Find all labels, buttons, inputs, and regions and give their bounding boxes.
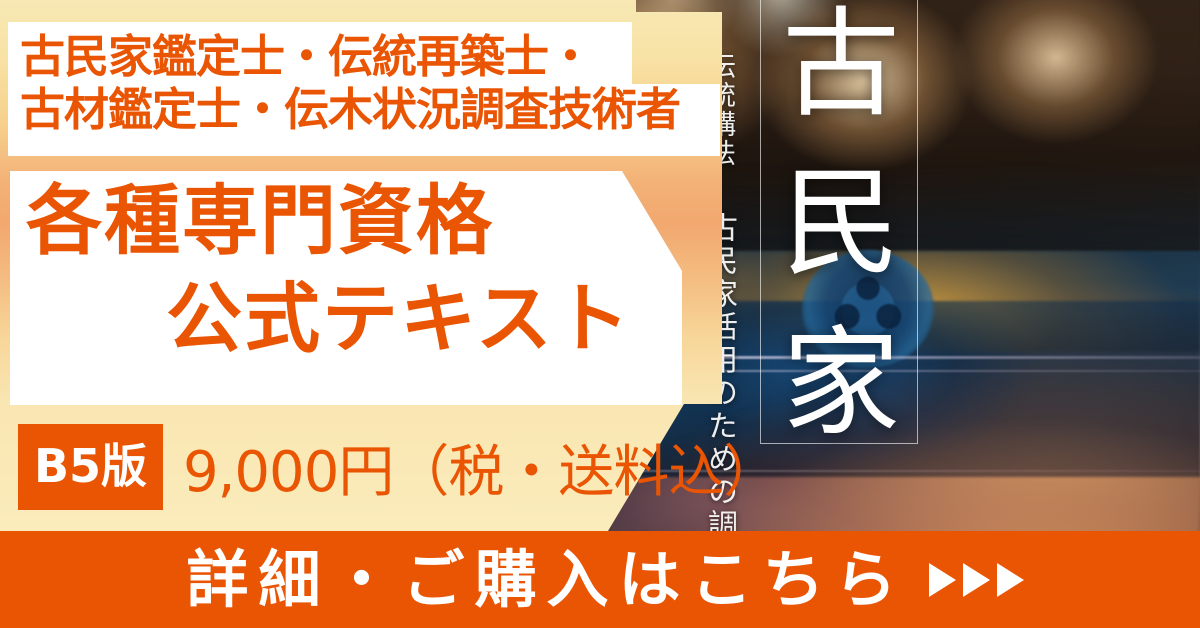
main-title: 各種専門資格 公式テキスト	[16, 176, 684, 363]
play-triangle-icon	[929, 563, 956, 597]
format-badge: B5版	[18, 424, 163, 510]
promo-banner[interactable]: 伝統構法 古民家活用のための調査と再生の 古 民 家 古民家鑑定士・伝統再築士・…	[0, 0, 1200, 628]
book-cover-title-char-1: 古	[782, 8, 900, 121]
main-title-line-1: 各種専門資格	[16, 176, 684, 266]
book-cover-title: 古 民 家	[766, 6, 916, 446]
book-cover-title-char-3: 家	[782, 327, 900, 440]
headline-line-1: 古民家鑑定士・伝統再築士・	[20, 30, 726, 85]
play-triangle-icon	[963, 563, 990, 597]
headline: 古民家鑑定士・伝統再築士・ 古材鑑定士・伝木状況調査技術者	[20, 30, 726, 138]
cta-arrows	[929, 563, 1024, 597]
headline-line-2: 古材鑑定士・伝木状況調査技術者	[20, 83, 726, 138]
cta-label: 詳細・ご購入はこちら	[176, 549, 906, 611]
price-row: B5版 9,000円（税・送料込）	[18, 423, 778, 511]
cta-bar[interactable]: 詳細・ご購入はこちら	[0, 531, 1200, 628]
main-title-line-2: 公式テキスト	[16, 274, 684, 364]
price-text: 9,000円（税・送料込）	[183, 427, 778, 508]
book-cover-title-char-2: 民	[782, 167, 900, 280]
play-triangle-icon	[997, 563, 1024, 597]
